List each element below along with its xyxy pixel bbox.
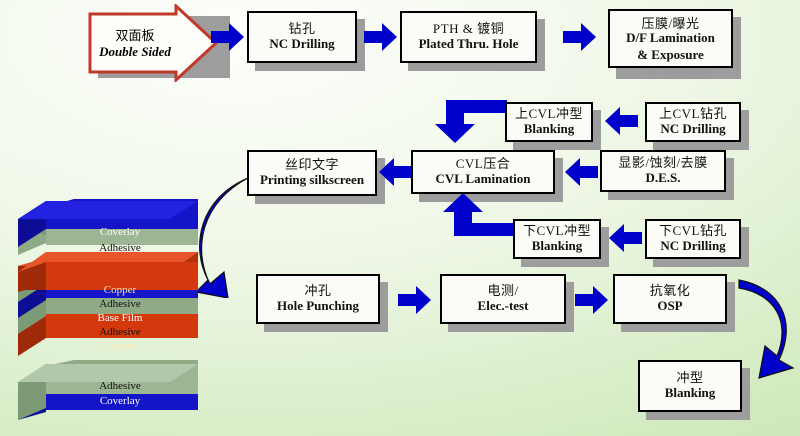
box-upper-cvl-blanking[interactable]: 上CVL冲型 Blanking [505, 102, 593, 142]
layer-label-adhesive-top: Adhesive [60, 242, 180, 254]
box-lower-cvl-blanking[interactable]: 下CVL冲型 Blanking [513, 219, 601, 259]
box-cvl-lamination[interactable]: CVL压合 CVL Lamination [411, 150, 555, 194]
layer-label-coverlay-top: Coverlay [60, 226, 180, 238]
arrow-start-to-drilling [211, 22, 245, 52]
box-lower-cvl-blanking-en: Blanking [532, 239, 583, 254]
box-printing-silkscreen-cn: 丝印文字 [285, 158, 339, 173]
box-nc-drilling-cn: 钻孔 [288, 22, 315, 37]
box-pth-plating-cn: PTH & 镀铜 [433, 22, 504, 37]
arrow-upper-blanking-elbow-down [435, 100, 507, 144]
layer-label-base-film: Base Film [60, 312, 180, 324]
layer-label-adhesive-lower: Adhesive [60, 326, 180, 338]
box-final-blanking[interactable]: 冲型 Blanking [638, 360, 742, 412]
start-label-group: 双面板 Double Sided [90, 18, 180, 66]
arrow-upper-drilling-to-blanking [605, 106, 639, 136]
box-df-lamination-cn: 压膜/曝光 [641, 17, 699, 32]
arrow-osp-to-blanking-curve [733, 278, 799, 390]
box-osp[interactable]: 抗氧化 OSP [613, 274, 727, 324]
box-elec-test-cn: 电测/ [487, 284, 518, 299]
box-nc-drilling-en: NC Drilling [269, 37, 334, 52]
box-osp-en: OSP [657, 299, 682, 314]
layer-label-copper-bottom: Copper [60, 340, 180, 352]
box-upper-cvl-drilling-cn: 上CVL钻孔 [659, 107, 727, 122]
box-hole-punching-cn: 冲孔 [304, 284, 331, 299]
box-upper-cvl-drilling[interactable]: 上CVL钻孔 NC Drilling [645, 102, 741, 142]
box-elec-test[interactable]: 电测/ Elec.-test [440, 274, 566, 324]
box-osp-cn: 抗氧化 [650, 284, 691, 299]
arrow-drilling-to-pth [364, 22, 398, 52]
box-cvl-lamination-en: CVL Lamination [436, 172, 531, 187]
box-df-lamination-en2: & Exposure [637, 48, 704, 63]
box-printing-silkscreen[interactable]: 丝印文字 Printing silkscreen [247, 150, 377, 196]
box-upper-cvl-blanking-en: Blanking [524, 122, 575, 137]
box-lower-cvl-drilling-en: NC Drilling [660, 239, 725, 254]
arrow-cvl-lamination-to-silkscreen [379, 157, 413, 187]
flowchart-canvas: 双面板 Double Sided 钻孔 NC Drilling PTH & 镀铜… [0, 0, 800, 436]
box-lower-cvl-drilling-cn: 下CVL钻孔 [659, 224, 727, 239]
layer-label-coverlay-bottom: Coverlay [60, 395, 180, 407]
box-des[interactable]: 显影/蚀刻/去膜 D.E.S. [600, 150, 726, 192]
start-label-en: Double Sided [99, 44, 171, 60]
box-final-blanking-en: Blanking [665, 386, 716, 401]
box-hole-punching[interactable]: 冲孔 Hole Punching [256, 274, 380, 324]
box-upper-cvl-drilling-en: NC Drilling [660, 122, 725, 137]
box-des-cn: 显影/蚀刻/去膜 [618, 156, 707, 171]
arrow-lower-blanking-elbow-up [443, 193, 515, 237]
box-df-lamination[interactable]: 压膜/曝光 D/F Lamination & Exposure [608, 9, 733, 68]
box-lower-cvl-blanking-cn: 下CVL冲型 [523, 224, 591, 239]
arrow-test-to-osp [575, 285, 609, 315]
box-des-en: D.E.S. [645, 171, 680, 186]
arrow-lower-drilling-to-blanking [609, 223, 643, 253]
box-pth-plating-en: Plated Thru. Hole [419, 37, 519, 52]
box-final-blanking-cn: 冲型 [676, 371, 703, 386]
layer-label-adhesive-upper: Adhesive [60, 298, 180, 310]
start-label-cn: 双面板 [115, 25, 154, 44]
arrow-des-to-cvl-lamination [565, 157, 599, 187]
layer-label-copper-top: Copper [60, 284, 180, 296]
box-elec-test-en: Elec.-test [478, 299, 529, 314]
layer-label-adhesive-bottom: Adhesive [60, 380, 180, 392]
box-nc-drilling[interactable]: 钻孔 NC Drilling [247, 11, 357, 63]
box-df-lamination-en: D/F Lamination [626, 31, 715, 46]
arrow-punching-to-test [398, 285, 432, 315]
box-lower-cvl-drilling[interactable]: 下CVL钻孔 NC Drilling [645, 219, 741, 259]
box-pth-plating[interactable]: PTH & 镀铜 Plated Thru. Hole [400, 11, 537, 63]
box-cvl-lamination-cn: CVL压合 [456, 157, 511, 172]
box-hole-punching-en: Hole Punching [277, 299, 359, 314]
box-upper-cvl-blanking-cn: 上CVL冲型 [515, 107, 583, 122]
box-printing-silkscreen-en: Printing silkscreen [260, 173, 364, 188]
arrow-pth-to-df [563, 22, 597, 52]
